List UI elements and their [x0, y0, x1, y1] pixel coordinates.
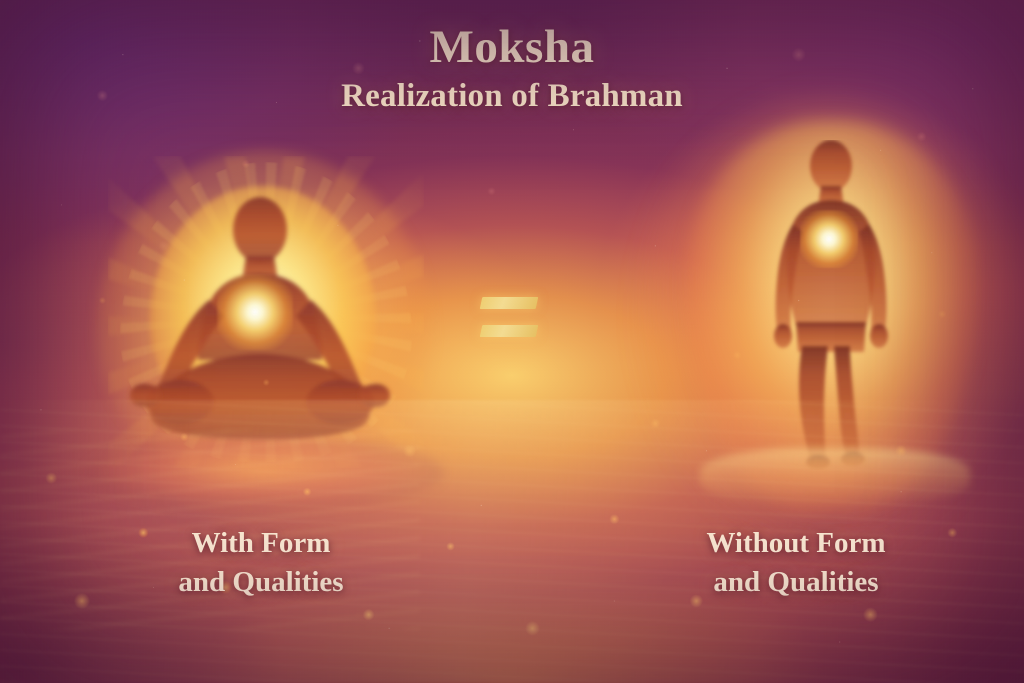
halo-core-glow — [150, 186, 376, 436]
equals-bar-bottom — [480, 325, 539, 337]
moksha-infographic: Moksha Realization of Brahman With Form … — [0, 0, 1024, 683]
caption-left-line2: and Qualities — [96, 563, 426, 602]
aura-core-glow — [686, 120, 978, 510]
caption-right: Without Form and Qualities — [616, 524, 976, 602]
aura-outer-glow — [640, 96, 1024, 546]
heart-chakra-right-icon — [800, 210, 858, 268]
light-path — [700, 448, 970, 506]
mandala-ring-pattern — [120, 162, 412, 462]
mandala-outer-glow — [96, 150, 432, 480]
heart-chakra-left-icon — [217, 274, 293, 350]
caption-left: With Form and Qualities — [96, 524, 426, 602]
standing-figure-silhouette — [746, 140, 916, 470]
page-subtitle: Realization of Brahman — [0, 80, 1024, 113]
caption-right-line2: and Qualities — [616, 563, 976, 602]
mandala-petal-pattern — [108, 156, 424, 468]
caption-left-line1: With Form — [96, 524, 426, 563]
caption-right-line1: Without Form — [616, 524, 976, 563]
title-block: Moksha Realization of Brahman — [0, 24, 1024, 113]
page-title: Moksha — [0, 24, 1024, 71]
equals-bar-top — [480, 297, 539, 309]
meditating-figure-silhouette — [110, 178, 410, 478]
equals-icon — [481, 297, 541, 337]
lotus-platform-glow — [84, 436, 444, 510]
